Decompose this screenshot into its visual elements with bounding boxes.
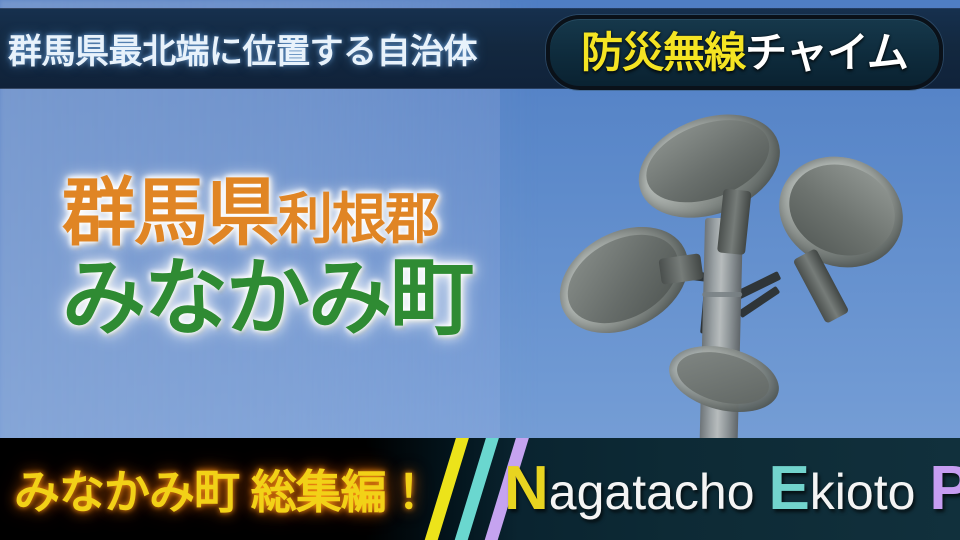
brand-initial-p: P [929,454,960,523]
horn-speaker-top [632,111,791,254]
town-name: みなかみ町 [62,256,582,340]
thumbnail-canvas: 群馬県最北端に位置する自治体 防災無線チャイム 群馬県利根郡 みなかみ町 みなか… [0,0,960,540]
brand-initial-e: E [768,454,809,523]
topic-badge-plain: チャイム [745,29,908,76]
prefecture-name: 群馬県 [62,171,278,254]
brand-space-1 [755,464,769,520]
horn-speaker-lower [668,348,784,440]
bottom-subtitle-text: みなかみ町 総集編！ [14,456,431,522]
headline-block: 群馬県利根郡 みなかみ町 [62,176,582,340]
brand-space-2 [915,464,929,520]
topic-badge-highlight: 防災無線 [581,29,745,76]
brand-word-ekioto: kioto [810,464,916,520]
brand-word-nagatacho: agatacho [549,464,755,520]
bottom-brand-bar: みなかみ町 総集編！ Nagatacho Ekioto Plus [0,438,960,540]
horn-speaker-right [778,158,920,308]
topic-badge: 防災無線チャイム [546,15,943,90]
brand-initial-n: N [504,454,549,523]
channel-brand-logo: Nagatacho Ekioto Plus [504,458,960,520]
top-caption-text: 群馬県最北端に位置する自治体 [8,24,477,73]
district-name: 利根郡 [278,188,439,250]
headline-line-1: 群馬県利根郡 [62,176,582,250]
